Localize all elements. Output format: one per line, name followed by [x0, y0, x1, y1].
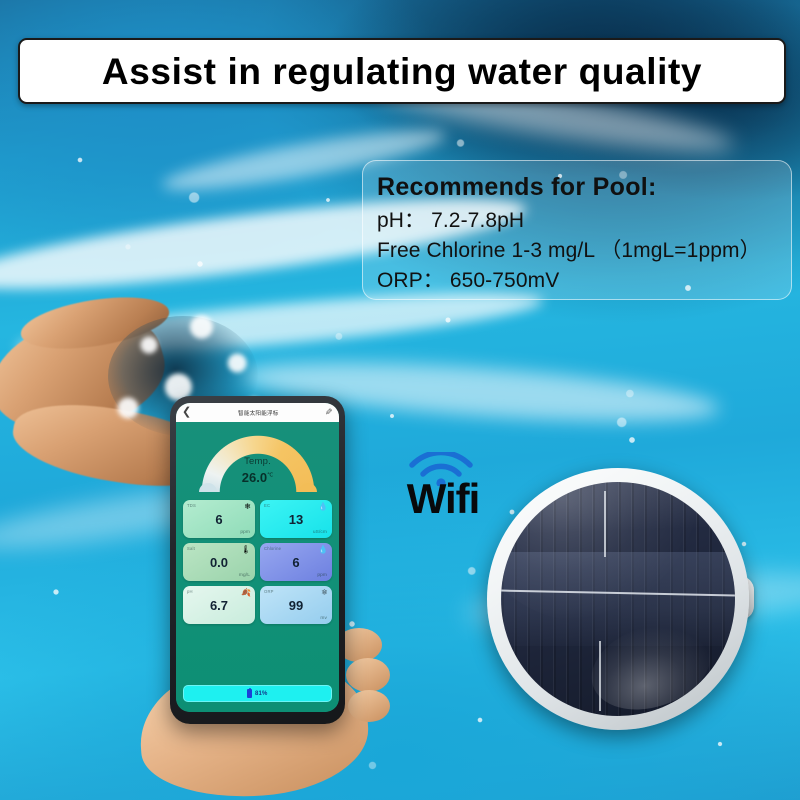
tile-unit: mg/L [239, 573, 250, 578]
tile-ph[interactable]: pH 🍂 6.7 [183, 586, 255, 624]
battery-icon [247, 689, 252, 698]
recommendation-ph: pH： 7.2-7.8pH [377, 206, 791, 236]
tile-value: 6 [183, 512, 255, 527]
solar-cell-band [501, 552, 735, 646]
recommendations-title: Recommends for Pool: [377, 173, 791, 201]
recommendation-orp: ORP： 650-750mV [377, 266, 791, 296]
solar-busbar-vertical [599, 641, 601, 711]
solar-busbar-vertical [604, 491, 606, 557]
gauge-unit: ℃ [267, 473, 273, 479]
finger [348, 690, 390, 722]
app-header: ❮ 智能太阳能浮标 ✎ [176, 403, 339, 422]
phone-screen: ❮ 智能太阳能浮标 ✎ Temp. 26.0℃ TDS [176, 403, 339, 712]
solar-panel-surface [501, 482, 735, 716]
smartphone: ❮ 智能太阳能浮标 ✎ Temp. 26.0℃ TDS [170, 396, 345, 724]
headline-text: Assist in regulating water quality [102, 53, 702, 90]
pencil-edit-icon[interactable]: ✎ [325, 408, 333, 417]
snowflake-icon: ❄ [244, 503, 251, 511]
gauge-value-group: 26.0℃ [196, 470, 320, 485]
tile-value: 0.0 [183, 555, 255, 570]
tile-label: TDS [187, 503, 196, 508]
tile-unit: ppm [317, 573, 327, 578]
back-chevron-icon[interactable]: ❮ [182, 407, 191, 418]
headline-banner: Assist in regulating water quality [18, 38, 786, 104]
tile-unit: uS/cm [313, 530, 327, 535]
floating-solar-panel-device [487, 468, 749, 730]
measurement-tiles: TDS ❄ 6 ppm EC 💧 13 uS/cm Salt 🌡 [183, 500, 332, 624]
tile-label: Salt [187, 546, 195, 551]
recommendations-panel: Recommends for Pool: pH： 7.2-7.8pH Free … [362, 160, 792, 300]
tile-value: 99 [260, 598, 332, 613]
tile-value: 6.7 [183, 598, 255, 613]
gauge-arc-container: Temp. 26.0℃ [196, 430, 320, 492]
tile-chlorine[interactable]: Chlorine 💧 6 ppm [260, 543, 332, 581]
gauge-label: Temp. [196, 456, 320, 467]
tile-value: 6 [260, 555, 332, 570]
tile-orp[interactable]: ORP ⚛ 99 mv [260, 586, 332, 624]
droplet-icon: 💧 [318, 503, 328, 511]
temperature-gauge: Temp. 26.0℃ [183, 430, 332, 496]
tile-ec[interactable]: EC 💧 13 uS/cm [260, 500, 332, 538]
thermometer-icon: 🌡 [241, 546, 251, 554]
app-body: Temp. 26.0℃ TDS ❄ 6 ppm EC 💧 13 [176, 422, 339, 712]
battery-percent: 81% [255, 691, 268, 697]
tile-label: EC [264, 503, 270, 508]
finger [346, 658, 390, 692]
recommendation-free-chlorine: Free Chlorine 1-3 mg/L （1mgL=1ppm） [377, 236, 791, 266]
device-rim [487, 468, 749, 730]
tile-unit: ppm [240, 530, 250, 535]
tile-salt[interactable]: Salt 🌡 0.0 mg/L [183, 543, 255, 581]
app-title: 智能太阳能浮标 [191, 408, 325, 416]
gauge-value: 26.0 [242, 470, 267, 485]
leaf-icon: 🍂 [241, 589, 251, 597]
tile-label: Chlorine [264, 546, 281, 551]
droplet-icon: 💧 [318, 546, 328, 554]
tile-tds[interactable]: TDS ❄ 6 ppm [183, 500, 255, 538]
gauge-icon: ⚛ [321, 589, 328, 597]
tile-unit: mv [320, 616, 327, 621]
tile-label: pH [187, 589, 193, 594]
tile-label: ORP [264, 589, 274, 594]
battery-bar[interactable]: 81% [183, 685, 332, 702]
battery-section: 81% [183, 678, 332, 712]
tile-value: 13 [260, 512, 332, 527]
product-marketing-image: Assist in regulating water quality Recom… [0, 0, 800, 800]
